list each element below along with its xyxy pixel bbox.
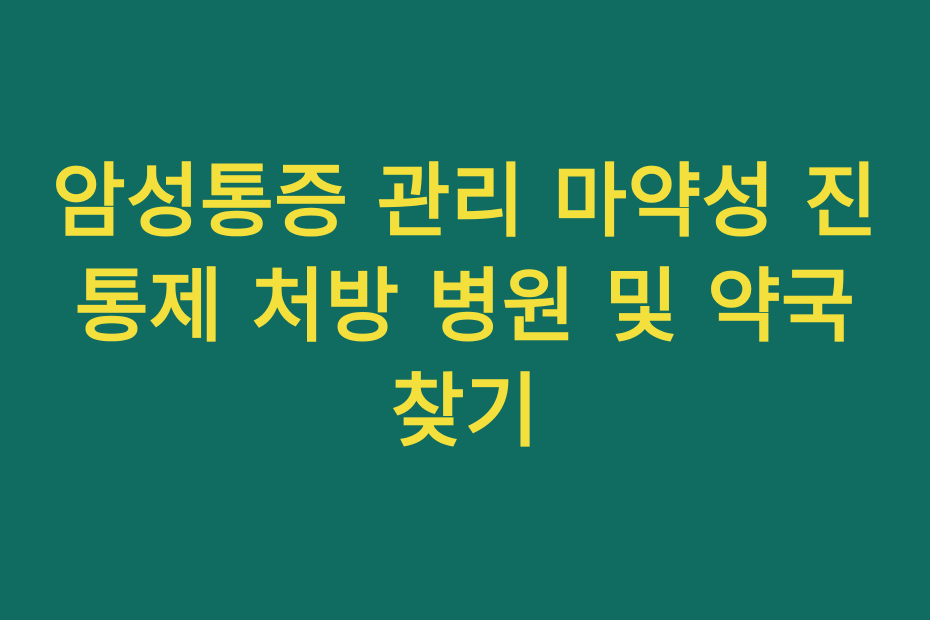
title-line-3: 찾기 bbox=[45, 359, 885, 464]
title-line-1: 암성통증 관리 마약성 진 bbox=[45, 149, 885, 254]
page-title: 암성통증 관리 마약성 진 통제 처방 병원 및 약국 찾기 bbox=[45, 149, 885, 464]
title-line-2: 통제 처방 병원 및 약국 bbox=[45, 254, 885, 359]
thumbnail-canvas: 암성통증 관리 마약성 진 통제 처방 병원 및 약국 찾기 bbox=[0, 0, 930, 620]
